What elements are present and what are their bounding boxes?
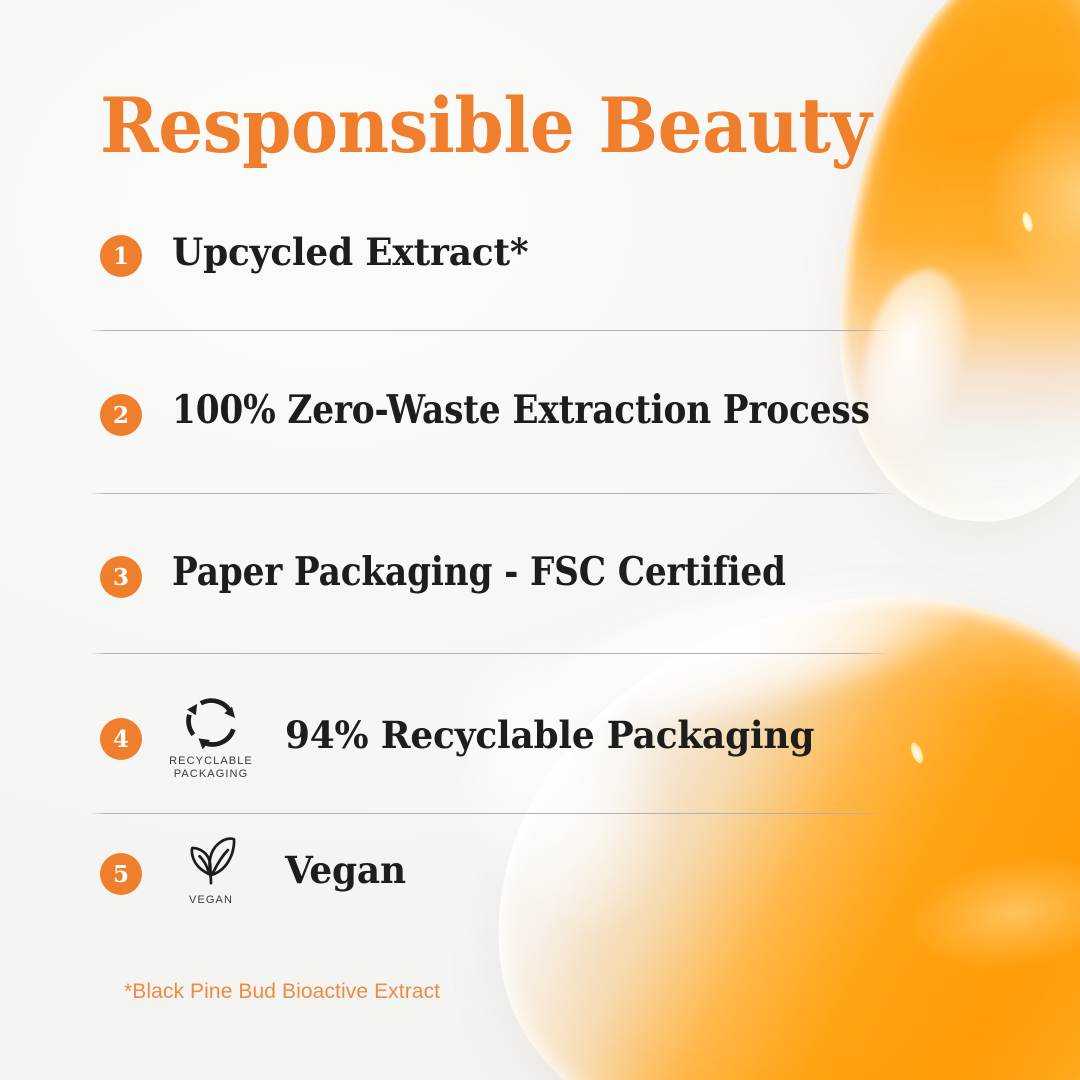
item-label-2: 100% Zero-Waste Extraction Process: [172, 387, 870, 433]
item-number-badge-3: 3: [100, 556, 142, 598]
vegan-certification: VEGAN: [168, 832, 254, 907]
vegan-caption: VEGAN: [168, 894, 254, 907]
recyclable-packaging-caption: RECYCLABLE PACKAGING: [168, 755, 254, 781]
item-number-badge-4: 4: [100, 718, 142, 760]
leaf-icon: [182, 832, 240, 890]
item-label-5: Vegan: [285, 848, 406, 892]
divider-1: [90, 330, 890, 331]
footnote: *Black Pine Bud Bioactive Extract: [124, 979, 440, 1005]
promo-card: Responsible Beauty 1 Upcycled Extract* 2…: [0, 0, 1080, 1080]
item-label-1: Upcycled Extract*: [172, 230, 528, 274]
page-title: Responsible Beauty: [100, 83, 871, 169]
divider-4: [90, 813, 890, 814]
item-label-3: Paper Packaging - FSC Certified: [172, 549, 786, 595]
content-layer: Responsible Beauty 1 Upcycled Extract* 2…: [0, 0, 1080, 1080]
recycle-icon: [182, 693, 240, 751]
item-number-badge-1: 1: [100, 235, 142, 277]
item-number-badge-5: 5: [100, 853, 142, 895]
recyclable-packaging-certification: RECYCLABLE PACKAGING: [168, 693, 254, 781]
divider-3: [90, 653, 890, 654]
item-number-badge-2: 2: [100, 394, 142, 436]
item-label-4: 94% Recyclable Packaging: [285, 713, 814, 757]
divider-2: [90, 493, 895, 494]
